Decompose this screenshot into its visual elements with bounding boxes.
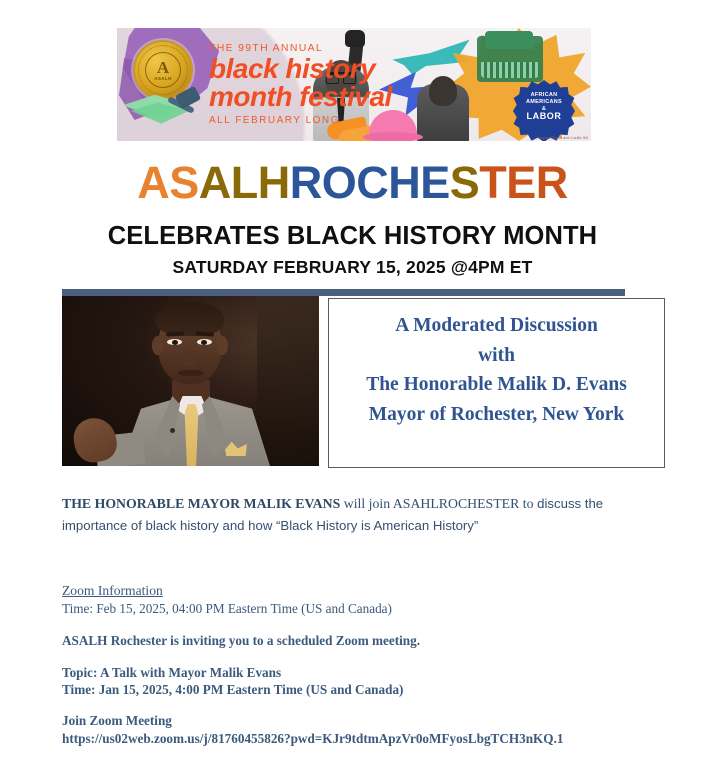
festival-banner: A ASALH AFRICAN AMERICANS & LABOR THE 99… xyxy=(117,28,591,141)
zoom-information-heading: Zoom Information xyxy=(62,583,622,600)
person-two-head xyxy=(429,76,457,106)
discussion-line-3: The Honorable Malik D. Evans xyxy=(366,370,627,400)
flyer-page: { "banner": { "name": "black-history-mon… xyxy=(0,0,705,767)
subtitle-celebrates: CELEBRATES BLACK HISTORY MONTH xyxy=(0,222,705,251)
zoom-time: Time: Feb 15, 2025, 04:00 PM Eastern Tim… xyxy=(62,600,622,617)
pink-hard-hat-brim xyxy=(363,132,423,141)
zoom-meeting-time: Time: Jan 15, 2025, 4:00 PM Eastern Time… xyxy=(62,681,622,698)
seal-word: ASALH xyxy=(154,76,172,81)
photo-ear-right xyxy=(217,336,228,355)
asalh-seal-icon: A ASALH xyxy=(135,42,191,98)
title-segment-roche: ROCHE xyxy=(290,157,450,208)
join-zoom-meeting-label: Join Zoom Meeting xyxy=(62,712,622,729)
title-segment-ter: TER xyxy=(479,157,568,208)
mayor-malik-evans-photo xyxy=(62,296,319,466)
paragraph-lead: THE HONORABLE MAYOR MALIK EVANS xyxy=(62,496,340,511)
banner-title-line-1: black history xyxy=(209,56,421,82)
zoom-topic: Topic: A Talk with Mayor Malik Evans xyxy=(62,664,622,681)
moderated-discussion-box: A Moderated Discussion with The Honorabl… xyxy=(328,298,665,468)
spacer-two xyxy=(62,650,622,664)
photo-hair xyxy=(156,302,224,336)
subtitle-date-time: SATURDAY FEBRUARY 15, 2025 @4PM ET xyxy=(0,257,705,278)
gear-badge-text: AFRICAN AMERICANS & LABOR xyxy=(513,92,575,120)
photo-pupil-right xyxy=(201,340,207,345)
photo-backdrop-panel xyxy=(257,296,319,466)
seal-inner: A ASALH xyxy=(145,52,181,88)
gear-line-4: LABOR xyxy=(513,113,575,120)
seal-letter: A xyxy=(157,59,169,76)
join-zoom-meeting-url[interactable]: https://us02web.zoom.us/j/81760455826?pw… xyxy=(62,730,622,747)
banner-headline-block: THE 99TH ANNUAL black history month fest… xyxy=(209,42,421,126)
discussion-line-4: Mayor of Rochester, New York xyxy=(369,400,624,430)
gear-line-1: AFRICAN xyxy=(513,92,575,99)
zoom-information-section: Zoom Information Time: Feb 15, 2025, 04:… xyxy=(62,583,622,747)
typewriter-keys xyxy=(481,62,539,78)
title-segment-as: AS xyxy=(137,157,199,208)
photo-nose xyxy=(182,346,198,366)
photo-pupil-left xyxy=(172,340,178,345)
photo-lapel-microphone xyxy=(170,428,175,433)
gear-line-2: AMERICANS xyxy=(513,99,575,106)
paragraph-mid: will join ASAHLROCHESTER to xyxy=(340,496,533,511)
banner-credit: Bayard Rustin and Lucille Hill xyxy=(538,136,588,140)
photo-mouth xyxy=(178,370,204,376)
banner-title-line-2: month festival xyxy=(209,84,421,110)
banner-footer: ALL FEBRUARY LONG xyxy=(209,115,421,126)
accent-bar xyxy=(62,289,625,296)
discussion-line-2: with xyxy=(478,341,515,371)
page-title: ASALHROCHESTER xyxy=(0,157,705,209)
zoom-invite-text: ASALH Rochester is inviting you to a sch… xyxy=(62,632,622,649)
spacer-one xyxy=(62,617,622,632)
typewriter-top xyxy=(485,31,533,49)
discussion-line-1: A Moderated Discussion xyxy=(395,311,598,341)
photo-ear-left xyxy=(152,336,163,355)
spacer-three xyxy=(62,698,622,712)
title-segment-s: S xyxy=(450,157,480,208)
description-paragraph: THE HONORABLE MAYOR MALIK EVANS will joi… xyxy=(62,492,607,537)
title-segment-alh: ALH xyxy=(199,157,290,208)
